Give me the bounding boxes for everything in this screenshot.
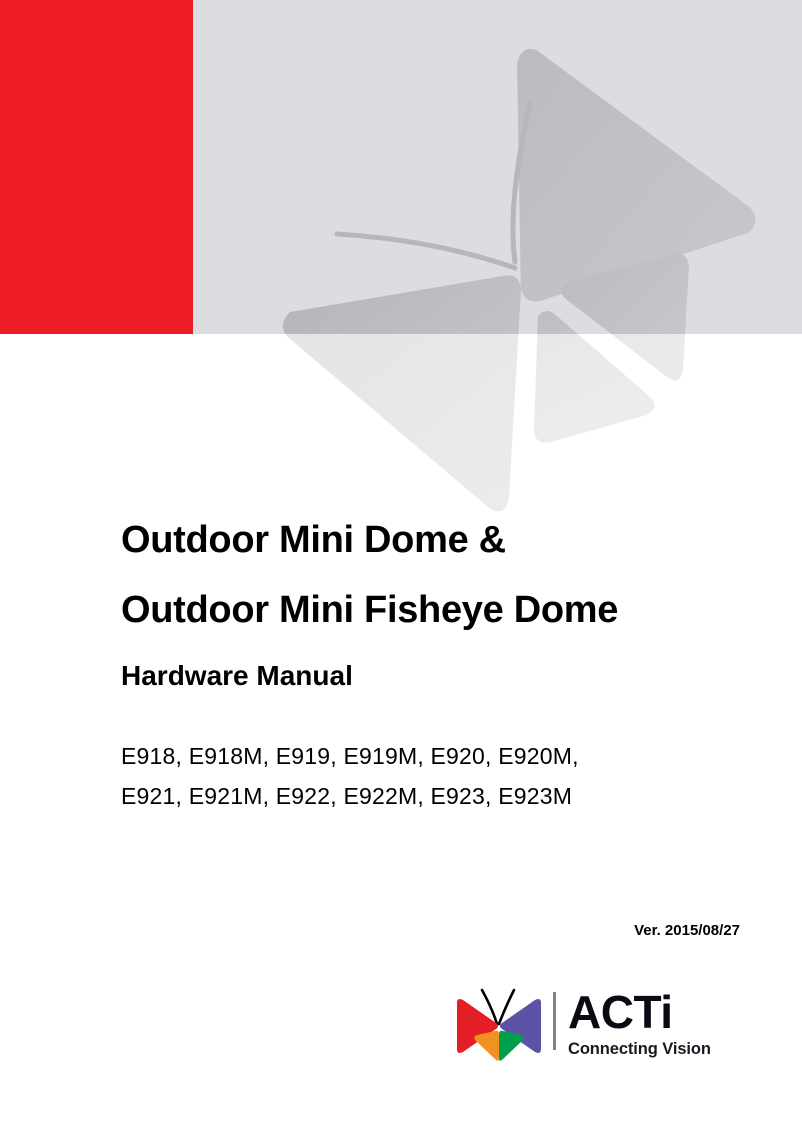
title-subtitle: Hardware Manual <box>121 653 761 699</box>
version-label: Ver. 2015/08/27 <box>0 922 740 939</box>
model-number-list: E918, E918M, E919, E919M, E920, E920M, E… <box>121 736 761 816</box>
acti-wordmark-text: ACTi <box>568 986 742 1038</box>
title-line-2: Outdoor Mini Fisheye Dome <box>121 575 761 645</box>
red-accent-block <box>0 0 193 334</box>
acti-butterfly-logo-icon <box>452 986 546 1064</box>
page-title: Outdoor Mini Dome & Outdoor Mini Fisheye… <box>121 505 761 699</box>
acti-tagline: Connecting Vision <box>568 1038 742 1060</box>
title-line-1: Outdoor Mini Dome & <box>121 505 761 575</box>
logo-divider <box>553 992 556 1050</box>
acti-logo: ACTi Connecting Vision <box>452 986 742 1064</box>
manual-cover-page: Outdoor Mini Dome & Outdoor Mini Fisheye… <box>0 0 802 1134</box>
model-line-2: E921, E921M, E922, E922M, E923, E923M <box>121 776 761 816</box>
model-line-1: E918, E918M, E919, E919M, E920, E920M, <box>121 736 761 776</box>
acti-wordmark: ACTi Connecting Vision <box>568 986 742 1064</box>
